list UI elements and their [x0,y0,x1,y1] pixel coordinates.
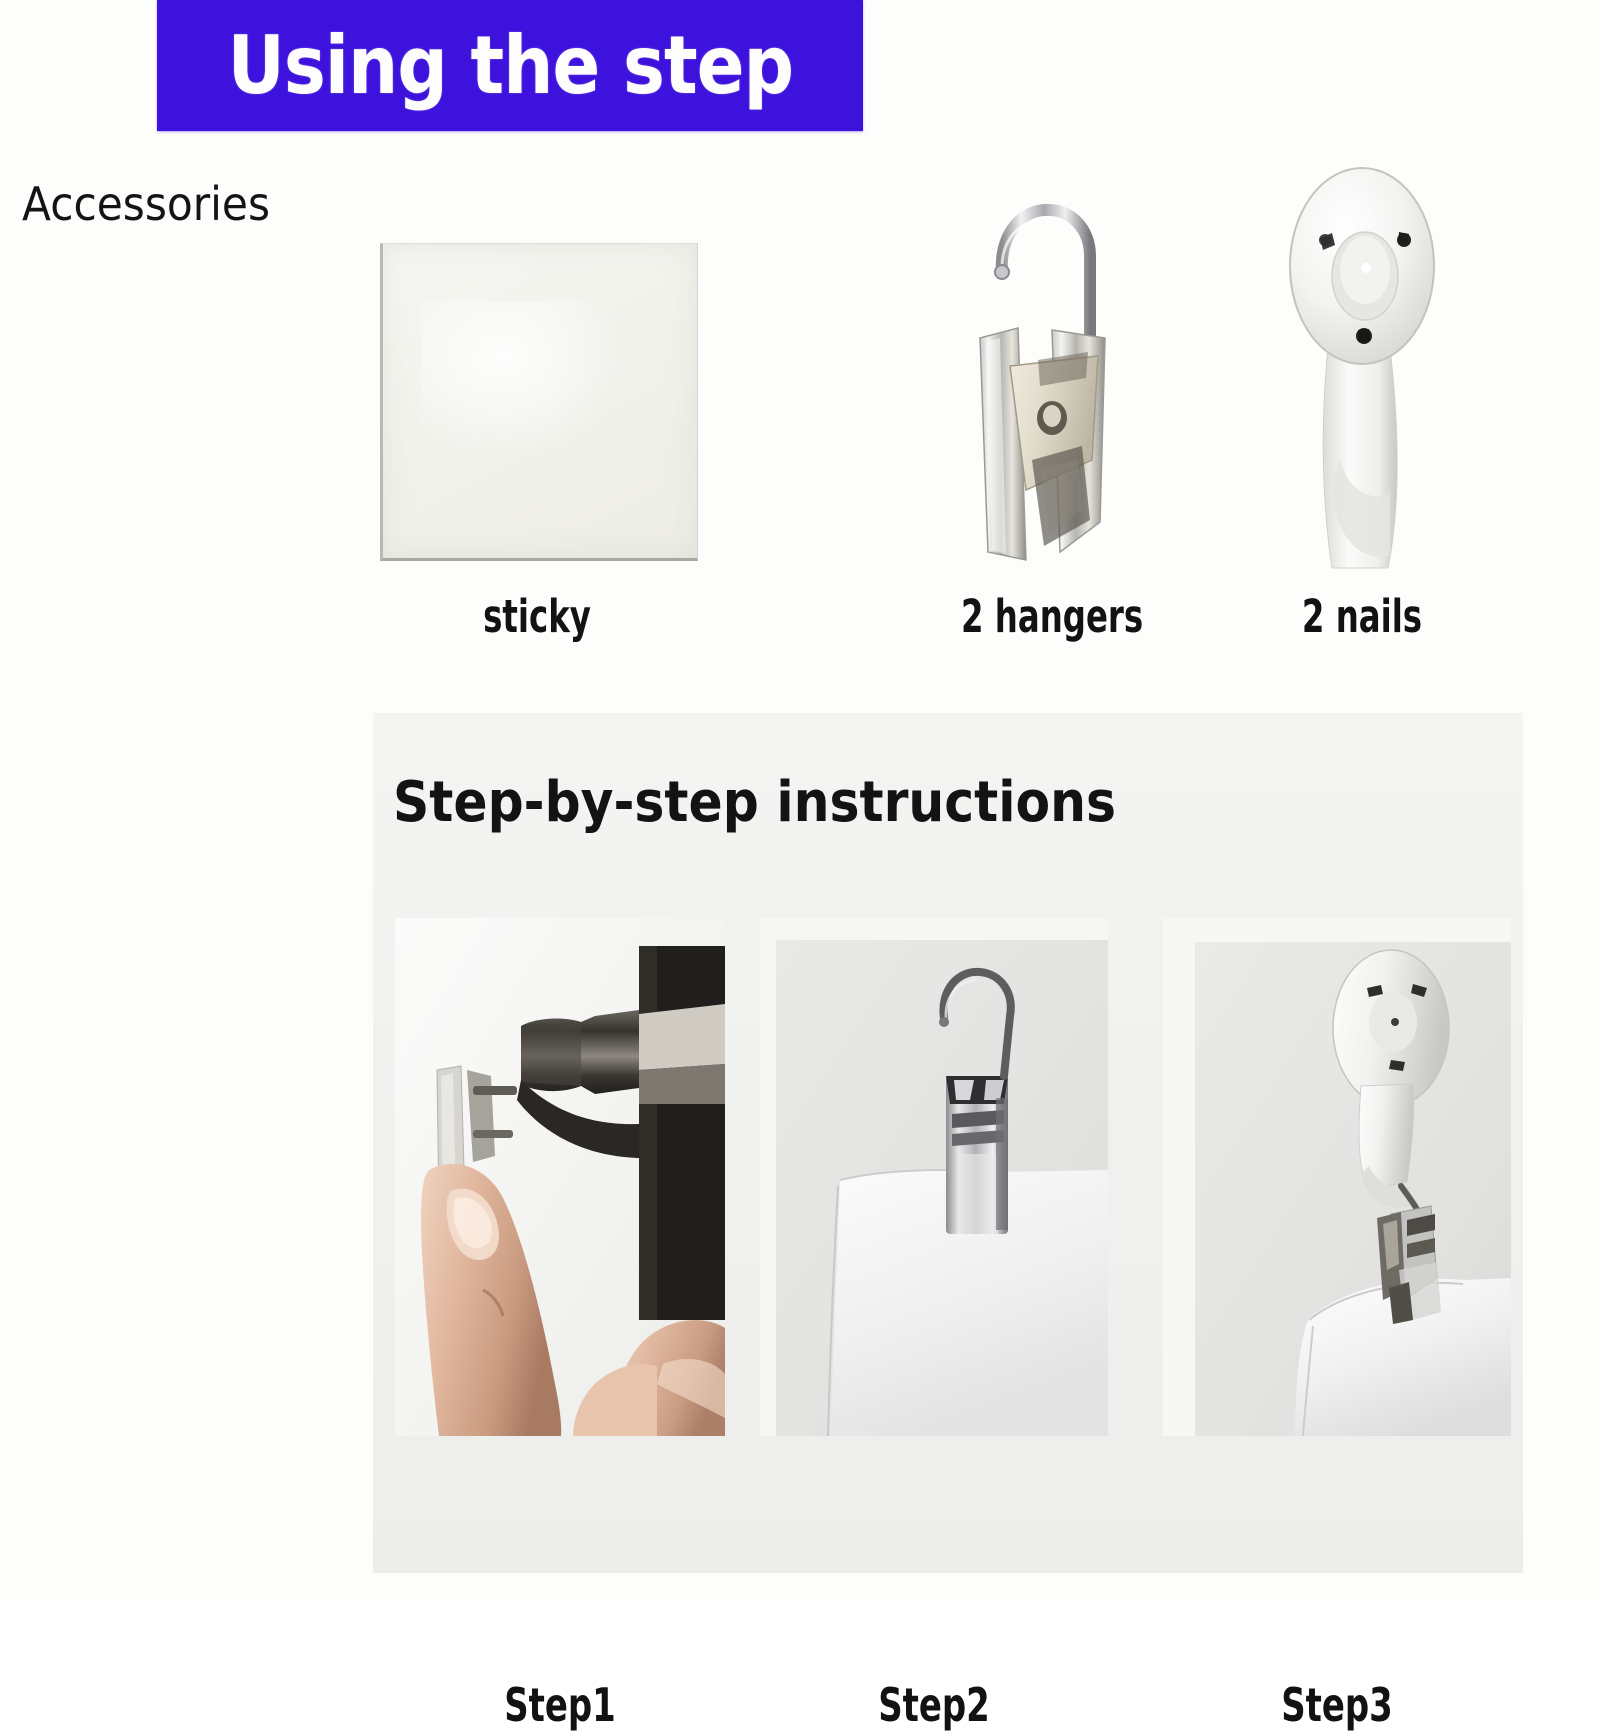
accessories-row: sticky [0,150,1600,680]
steps-heading: Step-by-step instructions [393,770,1116,835]
hanger-clip-icon [940,160,1150,580]
accessory-caption-sticky: sticky [411,590,662,643]
step-caption-1: Step1 [425,1678,696,1732]
accessory-caption-nails: 2 nails [1282,590,1442,643]
title-banner: Using the step [157,0,863,131]
nail-hook-icon [1262,158,1462,578]
sticky-pad-icon [380,243,698,561]
accessory-caption-hangers: 2 hangers [961,590,1129,643]
hammering-nail-into-wall-photo [395,918,725,1436]
page-title: Using the step [227,19,793,112]
step-caption-2: Step2 [791,1678,1076,1732]
clip-gripping-sheet-photo [760,918,1108,1436]
step-by-step-panel: Step-by-step instructions [373,713,1523,1573]
step-caption-3: Step3 [1194,1678,1479,1732]
hook-mounted-holding-fabric-photo [1163,918,1511,1436]
